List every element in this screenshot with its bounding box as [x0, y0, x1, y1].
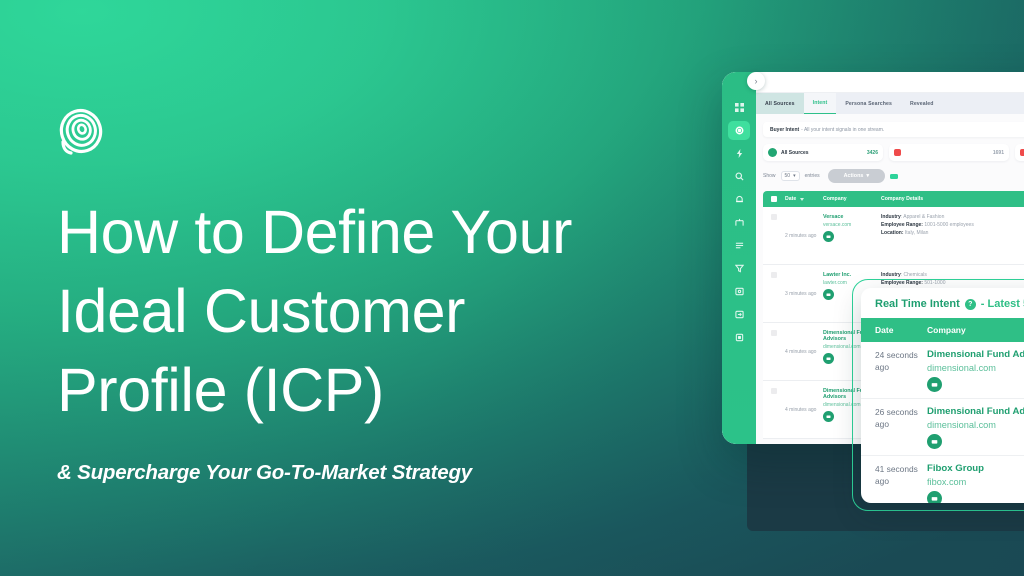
detail-value: : Apparel & Fashion: [901, 214, 945, 220]
row-date: 2 minutes ago: [785, 214, 823, 257]
overlay-company-name: Fibox Group: [927, 463, 1024, 474]
company-badge-icon: [823, 289, 834, 300]
real-time-intent-card: Real Time Intent ? - Latest 50 Date Comp…: [861, 288, 1024, 503]
row-date: 4 minutes ago: [785, 388, 823, 431]
column-company-details[interactable]: Company Details: [881, 196, 1024, 202]
detail-value: : Chemicals: [901, 272, 927, 278]
tab-revealed[interactable]: Revealed: [901, 93, 943, 114]
overlay-row-date: 24 seconds ago: [861, 349, 927, 392]
row-company-details: Industry: Apparel & Fashion Employee Ran…: [881, 214, 1024, 257]
row-date: 3 minutes ago: [785, 272, 823, 315]
overlay-company-name: Dimensional Fund Advisors: [927, 349, 1024, 360]
select-all-checkbox[interactable]: [763, 196, 785, 202]
overlay-company-url[interactable]: dimensional.com: [927, 363, 1024, 373]
company-badge-icon: [927, 491, 942, 503]
overlay-company-name: Dimensional Fund Advisors: [927, 406, 1024, 417]
sidebar-item-grid[interactable]: [728, 98, 750, 117]
stat-all-sources-label: All Sources: [781, 150, 809, 156]
stats-row: All Sources 3426 1691 496: [763, 144, 1024, 161]
overlay-company-url[interactable]: fibox.com: [927, 477, 1024, 487]
row-checkbox[interactable]: [763, 388, 785, 431]
table-controls: Show 50 ▾ entries Actions ▾: [763, 169, 1024, 183]
overlay-row[interactable]: 41 seconds ago Fibox Group fibox.com: [861, 456, 1024, 503]
sidebar-collapse-button[interactable]: ›: [747, 72, 765, 90]
company-badge-icon: [823, 411, 834, 422]
help-icon[interactable]: ?: [965, 299, 976, 310]
overlay-row-date: 41 seconds ago: [861, 463, 927, 503]
tab-intent[interactable]: Intent: [804, 93, 837, 114]
row-company-name: Versace: [823, 214, 877, 220]
column-company[interactable]: Company: [823, 196, 881, 202]
stat-all-sources[interactable]: All Sources 3426: [763, 144, 883, 161]
stat-alarm-two[interactable]: 496: [1015, 144, 1024, 161]
column-date-label: Date: [785, 196, 796, 202]
entries-label: entries: [805, 173, 820, 179]
row-checkbox[interactable]: [763, 330, 785, 373]
dashboard-sidebar: [722, 72, 756, 444]
company-badge-icon: [927, 377, 942, 392]
overlay-row-company: Fibox Group fibox.com: [927, 463, 1024, 503]
detail-key: Industry: [881, 214, 901, 220]
overlay-row-company: Dimensional Fund Advisors dimensional.co…: [927, 406, 1024, 449]
page-title: How to Define Your Ideal Customer Profil…: [57, 193, 657, 430]
alarm-icon: [894, 149, 901, 156]
chevron-down-icon: ▾: [793, 173, 796, 179]
tab-persona-searches[interactable]: Persona Searches: [836, 93, 901, 114]
sidebar-item-bolt[interactable]: [728, 144, 750, 163]
tab-all-sources[interactable]: All Sources: [756, 93, 804, 114]
detail-value: Italy, Milan: [904, 230, 929, 236]
real-time-intent-title-suffix: - Latest 50: [981, 298, 1024, 310]
overlay-row-date: 26 seconds ago: [861, 406, 927, 449]
row-company-url[interactable]: versace.com: [823, 222, 877, 228]
detail-key: Industry: [881, 272, 901, 278]
company-badge-icon: [823, 231, 834, 242]
actions-button[interactable]: Actions ▾: [828, 169, 886, 183]
concentric-spiral-logo: [57, 108, 105, 156]
row-company-name: Lawter Inc.: [823, 272, 877, 278]
stat-alarm-one[interactable]: 1691: [889, 144, 1009, 161]
overlay-column-date[interactable]: Date: [861, 325, 927, 335]
actions-button-label: Actions: [844, 173, 864, 179]
sidebar-item-export[interactable]: [728, 305, 750, 324]
sidebar-item-search[interactable]: [728, 167, 750, 186]
stat-alarm-one-value: 1691: [993, 150, 1004, 156]
sidebar-item-cards[interactable]: [728, 282, 750, 301]
overlay-row[interactable]: 26 seconds ago Dimensional Fund Advisors…: [861, 399, 1024, 456]
overlay-row[interactable]: 24 seconds ago Dimensional Fund Advisors…: [861, 342, 1024, 399]
row-date: 4 minutes ago: [785, 330, 823, 373]
detail-key: Location:: [881, 230, 904, 236]
camera-icon[interactable]: [890, 174, 898, 179]
sidebar-item-sitemap[interactable]: [728, 213, 750, 232]
dashboard-topbar: [756, 72, 1024, 93]
row-company: Versace versace.com: [823, 214, 881, 257]
buyer-intent-note: Buyer Intent - All your intent signals i…: [763, 122, 1024, 137]
buyer-intent-note-text: - All your intent signals in one stream.: [801, 127, 884, 133]
sidebar-item-list[interactable]: [728, 236, 750, 255]
company-badge-icon: [823, 353, 834, 364]
chevron-down-icon: ▾: [866, 173, 869, 179]
overlay-column-company[interactable]: Company: [927, 325, 1024, 335]
real-time-intent-title-text: Real Time Intent: [875, 298, 960, 310]
page-subtitle: & Supercharge Your Go-To-Market Strategy: [57, 461, 657, 485]
stat-all-sources-value: 3426: [867, 150, 878, 156]
sidebar-item-filter[interactable]: [728, 259, 750, 278]
row-checkbox[interactable]: [763, 214, 785, 257]
overlay-table-header: Date Company: [861, 318, 1024, 342]
real-time-intent-title: Real Time Intent ? - Latest 50: [861, 288, 1024, 318]
alarm-icon: [1020, 149, 1024, 156]
intent-table-header: Date Company Company Details: [763, 191, 1024, 207]
hero-content: How to Define Your Ideal Customer Profil…: [57, 108, 657, 485]
show-label: Show: [763, 173, 776, 179]
row-checkbox[interactable]: [763, 272, 785, 315]
table-row[interactable]: 2 minutes ago Versace versace.com Indust…: [763, 207, 1024, 265]
company-badge-icon: [927, 434, 942, 449]
buyer-intent-note-label: Buyer Intent: [770, 127, 799, 133]
detail-value: 1001-5000 employees: [923, 222, 974, 228]
sort-caret-icon: [800, 198, 804, 201]
detail-key: Employee Range:: [881, 222, 923, 228]
entries-value: 50: [785, 173, 791, 179]
column-date[interactable]: Date: [785, 196, 823, 202]
overlay-row-company: Dimensional Fund Advisors dimensional.co…: [927, 349, 1024, 392]
sidebar-item-intent[interactable]: [728, 121, 750, 140]
dashboard-tabs: All Sources Intent Persona Searches Reve…: [756, 93, 1024, 114]
source-dot-icon: [768, 148, 777, 157]
sidebar-item-notifications[interactable]: [728, 190, 750, 209]
entries-select[interactable]: 50 ▾: [781, 171, 800, 181]
sidebar-item-box[interactable]: [728, 328, 750, 347]
overlay-company-url[interactable]: dimensional.com: [927, 420, 1024, 430]
